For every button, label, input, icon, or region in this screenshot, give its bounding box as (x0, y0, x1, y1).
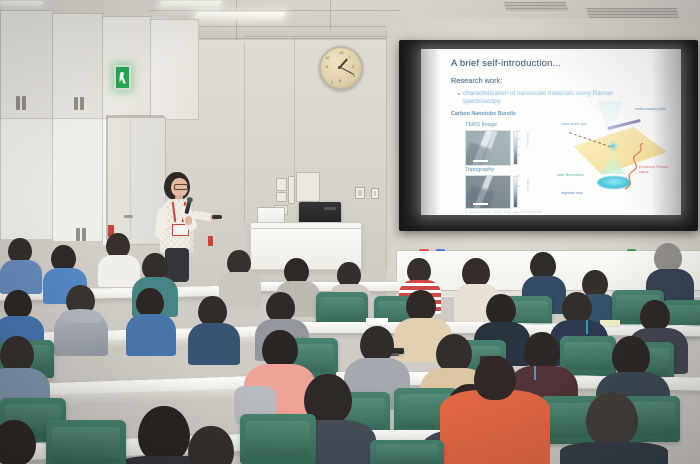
paper-sheet[interactable] (600, 320, 620, 326)
clock-numeral: 12 (339, 51, 343, 55)
wall-seam (244, 42, 245, 222)
wall-cabinet[interactable] (150, 19, 199, 120)
audience-head (586, 392, 638, 446)
colorbar-tick: 0 (517, 196, 518, 199)
wall-control-panel[interactable] (276, 192, 287, 202)
colorbar-tick: 0.8 (517, 138, 520, 141)
clock-numeral: 3 (352, 65, 354, 69)
audience-head (582, 270, 608, 297)
wall-cabinet[interactable] (52, 13, 104, 120)
ceiling-light-panel (159, 1, 222, 7)
ceiling-air-vent (504, 2, 569, 11)
audience-chair[interactable] (370, 440, 444, 464)
colorbar-axis-label: Intensity (a.u.) (526, 133, 529, 148)
wall-clock: 12 3 6 9 1 4 7 10 (319, 46, 363, 90)
cabinet-handle[interactable] (80, 97, 84, 110)
topography-micrograph (465, 175, 511, 209)
audience-head (136, 288, 164, 317)
audience-head (262, 330, 298, 368)
scale-bar (473, 160, 488, 162)
audience-head (612, 336, 650, 376)
clock-center-pin (338, 66, 341, 69)
ters-micrograph (465, 130, 511, 166)
audience-torso (126, 314, 176, 356)
topography-label: Topography (465, 167, 494, 173)
audience-torso-orange (440, 390, 550, 464)
audience-chair[interactable] (46, 420, 126, 464)
audience-head (640, 300, 670, 331)
presentation-slide: A brief self-introduction... Research wo… (421, 49, 681, 215)
cabinet-handle[interactable] (76, 228, 80, 241)
colorbar-tick: 10 (517, 185, 520, 188)
lectern-top-edge (250, 222, 362, 229)
audience-head (142, 253, 168, 280)
clock-numeral: 1 (348, 55, 350, 59)
audience-torso (219, 272, 261, 308)
whiteboard-marker[interactable] (419, 249, 429, 251)
audience-head (188, 426, 234, 464)
presentation-clicker[interactable] (212, 215, 222, 219)
presenter-trousers (165, 248, 189, 282)
diagram-label-spot: Nano sized spot (561, 122, 587, 126)
projection-screen-frame: A brief self-introduction... Research wo… (399, 40, 698, 231)
paper-sheet[interactable] (366, 318, 388, 325)
clock-numeral: 6 (339, 79, 341, 83)
desk-row (236, 282, 416, 292)
audience-head (524, 332, 560, 370)
topography-colorbar (513, 176, 518, 208)
ceiling-grid-line (150, 10, 400, 11)
presenter-glasses (174, 184, 188, 190)
diagram-label-lens: objective lens (561, 191, 583, 195)
audience-head (266, 292, 295, 322)
whiteboard-marker[interactable] (627, 249, 636, 251)
slide-section-label: Carbon Nanotube Bundle (451, 111, 516, 117)
wall-seam (386, 30, 387, 270)
slide-edge-shadow (651, 49, 681, 215)
audience-head (486, 294, 516, 325)
audience-head-gray (654, 243, 682, 272)
diagram-label-laser: laser illumination (557, 173, 584, 177)
colorbar-tick: 0.2 (517, 154, 520, 157)
audience-lanyard (586, 320, 588, 334)
nano-spot (611, 144, 615, 148)
cabinet-handle[interactable] (16, 96, 20, 110)
lectern-equipment[interactable] (299, 202, 341, 224)
audience-head (462, 258, 490, 287)
audience-chair[interactable] (240, 414, 316, 464)
colorbar-axis-label: Height (nm) (526, 178, 529, 191)
audience-lanyard (534, 366, 536, 380)
cabinet-handle[interactable] (22, 96, 26, 110)
slide-title: A brief self-introduction... (451, 58, 561, 69)
audience-head (198, 296, 227, 326)
wall-niche (296, 172, 320, 202)
cabinet-handle[interactable] (74, 97, 78, 110)
slide-footnote: N. Hayazawa et al., Chem. Phys. Lett. 33… (465, 210, 542, 214)
wall-seam (244, 36, 389, 37)
wall-cabinet[interactable] (0, 10, 54, 120)
clock-numeral: 9 (326, 65, 328, 69)
wall-control-panel[interactable] (276, 178, 287, 191)
audience-torso (560, 442, 668, 464)
colorbar-tick: 0.5 (517, 146, 520, 149)
ceiling-grid-line (236, 0, 237, 40)
illumination-cone-top (597, 101, 623, 135)
ceiling-light-panel (195, 12, 286, 19)
audience-head (562, 292, 592, 323)
lower-cabinet[interactable] (0, 118, 54, 240)
audience-head (436, 334, 472, 372)
wall-seam (294, 36, 295, 176)
slide-subtitle: Research work: (451, 76, 502, 85)
presenter-hand-mic (185, 216, 192, 225)
colorbar-tick: 1.0 (517, 130, 520, 133)
clock-numeral: 10 (325, 56, 329, 60)
audience-head (360, 326, 394, 362)
audience-torso (0, 260, 42, 294)
colorbar-tick: 20 (517, 175, 520, 178)
audience-head (530, 252, 556, 279)
audience-head (406, 290, 436, 321)
audience-chair[interactable] (316, 292, 368, 326)
ters-image-label: TERS Image (465, 122, 497, 128)
lower-cabinet[interactable] (52, 118, 104, 242)
audience-head (4, 290, 32, 319)
exit-figure-icon (119, 72, 126, 84)
audience-torso (98, 255, 140, 287)
cabinet-handle[interactable] (82, 228, 86, 241)
door-handle[interactable] (124, 215, 133, 218)
ceiling-light-panel (0, 1, 43, 6)
audience-head (138, 406, 190, 462)
audience-torso (188, 323, 240, 365)
lecture-hall-photo: 12 3 6 9 1 4 7 10 A brief self-introduct… (0, 0, 700, 464)
hoodie-hood (60, 309, 102, 323)
light-switch[interactable] (371, 188, 379, 199)
audience-head (474, 356, 516, 400)
whiteboard-marker[interactable] (436, 249, 445, 251)
slide-edge-shadow (421, 49, 441, 215)
wall-control-strip[interactable] (288, 176, 295, 204)
clock-numeral: 7 (331, 81, 333, 85)
ceiling-grid-line (330, 0, 331, 30)
light-switch[interactable] (355, 187, 365, 199)
scale-bar (473, 203, 488, 205)
door-seam (130, 122, 131, 240)
emergency-exit-sign (114, 65, 131, 90)
audience-head (0, 336, 34, 372)
